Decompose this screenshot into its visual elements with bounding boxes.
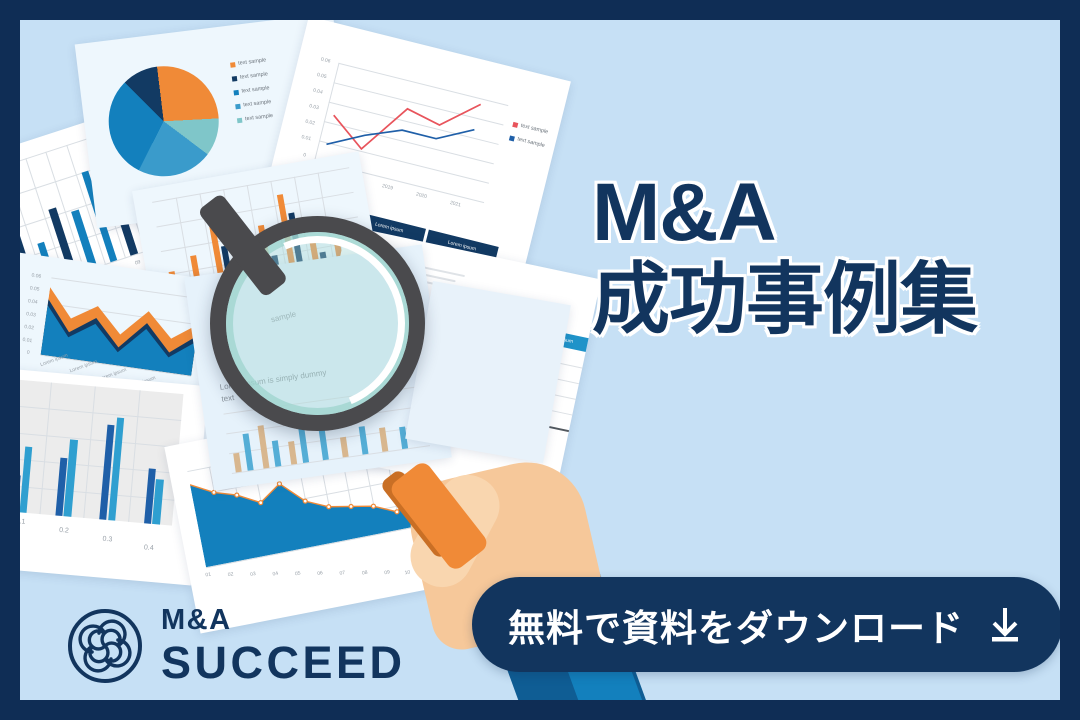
axis-tick: 10 (404, 569, 411, 576)
plot-area (20, 379, 183, 526)
bar-tan (379, 427, 388, 452)
axis-tick: 06 (317, 570, 324, 577)
title-line-primary: M&A (592, 170, 1060, 255)
axis-tick: 0.01 (22, 337, 32, 344)
axis-tick: 0.04 (312, 88, 323, 96)
axis-tick: 2019 (381, 183, 393, 192)
legend-item: text sample (233, 85, 270, 95)
legend-label: text sample (243, 99, 272, 108)
page-title: M&A 成功事例集 (592, 170, 1060, 340)
legend-swatch-blue (233, 89, 239, 95)
legend-item: text sample (512, 121, 549, 136)
axis-tick: 0.02 (24, 324, 34, 331)
legend-swatch-teal (237, 117, 243, 123)
axis-tick: 0.1 (20, 518, 26, 526)
logo-wordmark: M&A SUCCEED (161, 606, 406, 685)
axis-tick: 0.4 (144, 544, 154, 552)
area-chart-svg (41, 277, 202, 375)
document-magnified-chart: sample Lorem ipsum is simply dummy text (184, 244, 452, 490)
axis-tick: 0.01 (301, 134, 312, 142)
title-line-secondary: 成功事例集 (592, 259, 1060, 340)
document-blank-right (405, 281, 571, 463)
legend-swatch-navy (232, 76, 238, 82)
bar-blue (298, 428, 309, 463)
interlocking-knot-icon (66, 607, 144, 685)
axis-tick: 0.03 (309, 103, 320, 111)
bar-blue (359, 426, 369, 454)
legend-label: text sample (517, 136, 546, 149)
brand-logo: M&A SUCCEED (66, 606, 406, 685)
legend-label: text sample (238, 57, 267, 66)
bar-tan (233, 453, 242, 473)
axis-tick: 2020 (415, 192, 427, 201)
legend-label: text sample (520, 123, 549, 136)
axis-tick: 2021 (449, 200, 461, 209)
legend-swatch-blue (509, 135, 515, 141)
axis-tick: 0.05 (29, 285, 39, 292)
banner-canvas: 03 04 05 06 07 08 09 10 11 text sample t… (20, 20, 1060, 700)
axis-tick: 0.03 (26, 311, 36, 318)
legend-label: text sample (245, 113, 274, 122)
legend-item: text sample (235, 99, 272, 109)
axis-tick: 09 (384, 569, 391, 576)
download-icon (984, 604, 1026, 646)
bar-blue (272, 440, 282, 467)
axis-tick: 04 (272, 571, 279, 578)
axis-tick: 07 (339, 570, 346, 577)
axis-tick: 0 (302, 152, 306, 158)
pie-chart (102, 60, 225, 183)
legend-item: text sample (232, 71, 269, 81)
axis-tick: 01 (205, 572, 212, 579)
axis-tick: 0.06 (320, 56, 331, 64)
axis-tick: 0.06 (31, 273, 41, 280)
logo-line-bottom: SUCCEED (161, 640, 406, 685)
bar-blue (243, 433, 254, 471)
logo-line-top: M&A (161, 606, 406, 635)
axis-tick: 02 (227, 571, 234, 578)
magnified-sample-label: sample (270, 309, 297, 324)
axis-tick: 08 (362, 570, 369, 577)
bar-tan (258, 425, 270, 469)
axis-tick: 0.02 (305, 119, 316, 127)
legend-swatch-lightblue (235, 103, 241, 109)
bar-blue (319, 428, 329, 460)
axis-tick: 09 (134, 259, 141, 266)
axis-tick: 0.3 (102, 536, 112, 544)
promo-banner: 03 04 05 06 07 08 09 10 11 text sample t… (0, 0, 1080, 720)
legend-swatch-orange (230, 62, 236, 68)
legend-label: text sample (241, 85, 270, 94)
legend-item: text sample (230, 57, 267, 67)
axis-tick: 0.2 (59, 527, 69, 535)
axis-tick: 0.04 (28, 298, 38, 305)
bar-tan (288, 441, 297, 464)
axis-tick: 0 (26, 350, 30, 356)
legend-item: text sample (237, 113, 274, 123)
axis-tick: 05 (294, 570, 301, 577)
legend-item: text sample (509, 134, 546, 149)
download-cta-button[interactable]: 無料で資料をダウンロード (472, 577, 1060, 672)
axis-tick: 0.05 (316, 72, 327, 80)
bar-tan (340, 436, 349, 457)
cta-label: 無料で資料をダウンロード (508, 598, 964, 652)
legend-swatch-red (512, 121, 518, 127)
legend-label: text sample (240, 71, 269, 80)
axis-tick: 03 (250, 571, 257, 578)
